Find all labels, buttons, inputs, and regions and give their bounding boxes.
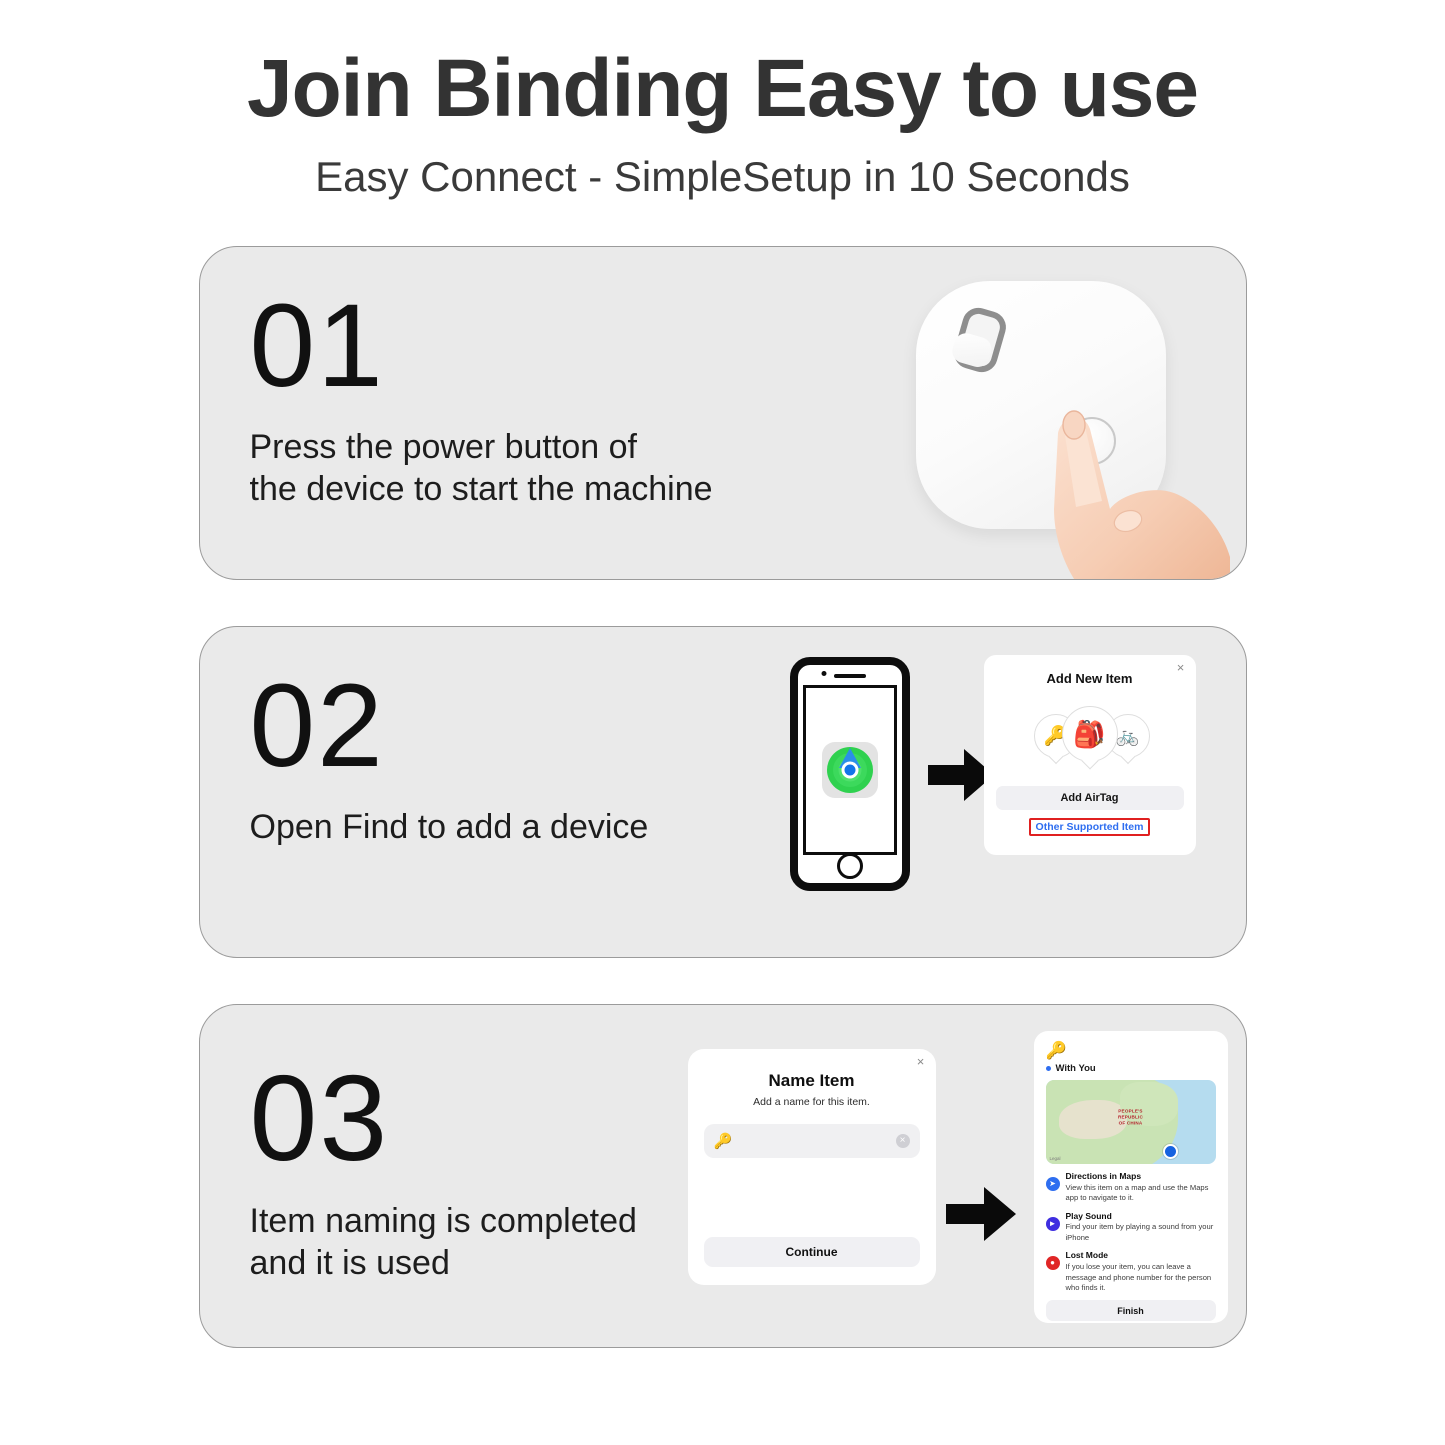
key-emoji-icon: 🔑 (714, 1132, 733, 1150)
item-detail-screen: 🔑 With You PEOPLE'S REPUBLIC OF CHINA Le… (1034, 1031, 1228, 1323)
other-supported-item-link[interactable]: Other Supported Item (1029, 818, 1151, 836)
action-text: Directions in Maps View this item on a m… (1066, 1171, 1216, 1204)
iphone-illustration (790, 657, 910, 891)
status-dot-icon (1046, 1066, 1051, 1071)
add-new-item-title: Add New Item (996, 671, 1184, 686)
action-title: Play Sound (1066, 1211, 1216, 1222)
front-camera-icon (821, 671, 826, 676)
name-item-subtitle: Add a name for this item. (704, 1096, 920, 1108)
action-row[interactable]: ► Play Sound Find your item by playing a… (1046, 1211, 1216, 1244)
close-icon[interactable]: × (915, 1056, 927, 1068)
map-location-pin-icon[interactable] (1163, 1144, 1178, 1159)
step-02-description: Open Find to add a device (250, 807, 649, 848)
step-03-number: 03 (250, 1057, 637, 1179)
mini-map[interactable]: PEOPLE'S REPUBLIC OF CHINA Legal (1046, 1080, 1216, 1164)
continue-button[interactable]: Continue (704, 1237, 920, 1267)
backpack-bubble-icon: 🎒 (1062, 706, 1118, 762)
step-02-number: 02 (250, 667, 649, 785)
tracker-tag-illustration (898, 269, 1228, 580)
step-01-text-block: 01 Press the power button of the device … (250, 287, 713, 510)
action-text: Lost Mode If you lose your item, you can… (1066, 1250, 1216, 1293)
earpiece-speaker-icon (834, 674, 866, 678)
step-01-description: Press the power button of the device to … (250, 427, 713, 510)
pressing-finger-illustration (1024, 389, 1230, 580)
page-title: Join Binding Easy to use (0, 46, 1445, 132)
step-02-illustration: × Add New Item 🔑 🚲 🎒 Add AirTag Other Su… (784, 655, 1234, 927)
page-header: Join Binding Easy to use Easy Connect - … (0, 0, 1445, 200)
action-description: Find your item by playing a sound from y… (1066, 1222, 1216, 1243)
action-description: If you lose your item, you can leave a m… (1066, 1262, 1216, 1293)
step-card-03: 03 Item naming is completed and it is us… (199, 1004, 1247, 1348)
action-title: Directions in Maps (1066, 1171, 1216, 1182)
directions-icon: ➤ (1046, 1177, 1060, 1191)
add-airtag-button[interactable]: Add AirTag (996, 786, 1184, 810)
name-item-title: Name Item (704, 1071, 920, 1091)
action-text: Play Sound Find your item by playing a s… (1066, 1211, 1216, 1244)
step-01-number: 01 (250, 287, 713, 405)
page-subtitle: Easy Connect - SimpleSetup in 10 Seconds (0, 154, 1445, 200)
add-new-item-dialog: × Add New Item 🔑 🚲 🎒 Add AirTag Other Su… (984, 655, 1196, 855)
location-dot-icon (841, 762, 858, 779)
phone-screen (803, 685, 897, 855)
step-02-text-block: 02 Open Find to add a device (250, 667, 649, 848)
steps-container: 01 Press the power button of the device … (0, 246, 1445, 1348)
action-row[interactable]: ➤ Directions in Maps View this item on a… (1046, 1171, 1216, 1204)
status-label: With You (1056, 1063, 1096, 1074)
step-card-02: 02 Open Find to add a device (199, 626, 1247, 958)
action-description: View this item on a map and use the Maps… (1066, 1183, 1216, 1204)
lost-mode-icon: ● (1046, 1256, 1060, 1270)
find-my-app-icon[interactable] (822, 742, 878, 798)
step-03-description: Item naming is completed and it is used (250, 1201, 637, 1284)
map-attribution: Legal (1050, 1156, 1061, 1161)
action-title: Lost Mode (1066, 1250, 1216, 1261)
finish-button[interactable]: Finish (1046, 1300, 1216, 1321)
keyring-hole-icon (950, 304, 1009, 376)
item-type-bubbles: 🔑 🚲 🎒 (996, 700, 1184, 774)
map-plateau (1059, 1100, 1127, 1139)
name-item-dialog: × Name Item Add a name for this item. 🔑 … (688, 1049, 936, 1285)
step-03-illustration: × Name Item Add a name for this item. 🔑 … (688, 1031, 1228, 1323)
action-row[interactable]: ● Lost Mode If you lose your item, you c… (1046, 1250, 1216, 1293)
step-card-01: 01 Press the power button of the device … (199, 246, 1247, 580)
item-name-input[interactable]: 🔑 × (704, 1124, 920, 1158)
step-03-text-block: 03 Item naming is completed and it is us… (250, 1057, 637, 1284)
map-country-label: PEOPLE'S REPUBLIC OF CHINA (1118, 1109, 1143, 1126)
home-button-icon[interactable] (837, 853, 863, 879)
clear-input-icon[interactable]: × (896, 1134, 910, 1148)
other-supported-item-wrap: Other Supported Item (996, 818, 1184, 836)
item-key-emoji-icon: 🔑 (1046, 1042, 1216, 1059)
item-actions-list: ➤ Directions in Maps View this item on a… (1046, 1171, 1216, 1293)
item-status-row: With You (1046, 1063, 1216, 1074)
close-icon[interactable]: × (1175, 662, 1187, 674)
play-sound-icon: ► (1046, 1217, 1060, 1231)
